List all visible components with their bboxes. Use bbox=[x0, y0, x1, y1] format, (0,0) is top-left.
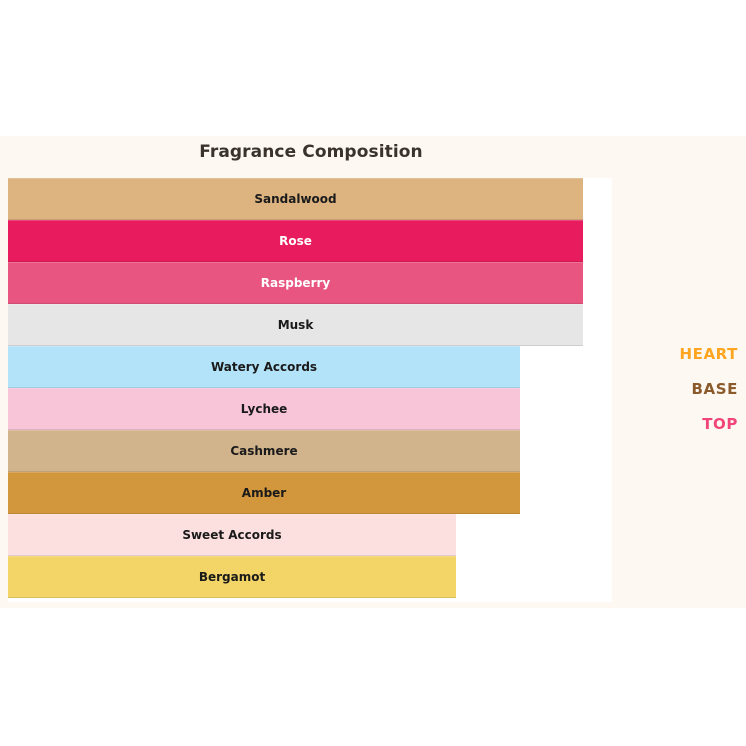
chart-legend: HEARTBASETOP bbox=[622, 136, 746, 608]
bar-row[interactable]: Amber bbox=[8, 472, 520, 514]
bar-series: SandalwoodRoseRaspberryMuskWatery Accord… bbox=[8, 178, 612, 602]
bar-row[interactable]: Musk bbox=[8, 304, 583, 346]
bar-bergamot[interactable] bbox=[8, 556, 456, 598]
legend-item-top[interactable]: TOP bbox=[702, 415, 738, 433]
bar-raspberry[interactable] bbox=[8, 262, 583, 304]
plot-area: SandalwoodRoseRaspberryMuskWatery Accord… bbox=[8, 178, 612, 602]
bar-row[interactable]: Bergamot bbox=[8, 556, 456, 598]
chart-title: Fragrance Composition bbox=[0, 142, 622, 162]
bar-row[interactable]: Raspberry bbox=[8, 262, 583, 304]
bar-musk[interactable] bbox=[8, 304, 583, 346]
bar-row[interactable]: Watery Accords bbox=[8, 346, 520, 388]
bar-watery-accords[interactable] bbox=[8, 346, 520, 388]
bar-row[interactable]: Rose bbox=[8, 220, 583, 262]
bar-row[interactable]: Lychee bbox=[8, 388, 520, 430]
bar-sweet-accords[interactable] bbox=[8, 514, 456, 556]
bar-row[interactable]: Sweet Accords bbox=[8, 514, 456, 556]
bar-cashmere[interactable] bbox=[8, 430, 520, 472]
bar-lychee[interactable] bbox=[8, 388, 520, 430]
legend-item-base[interactable]: BASE bbox=[692, 380, 739, 398]
bar-sandalwood[interactable] bbox=[8, 178, 583, 220]
bar-row[interactable]: Cashmere bbox=[8, 430, 520, 472]
chart-figure: Fragrance Composition SandalwoodRoseRasp… bbox=[0, 136, 746, 608]
bar-amber[interactable] bbox=[8, 472, 520, 514]
bar-row[interactable]: Sandalwood bbox=[8, 178, 583, 220]
legend-item-heart[interactable]: HEART bbox=[679, 345, 738, 363]
bar-rose[interactable] bbox=[8, 220, 583, 262]
